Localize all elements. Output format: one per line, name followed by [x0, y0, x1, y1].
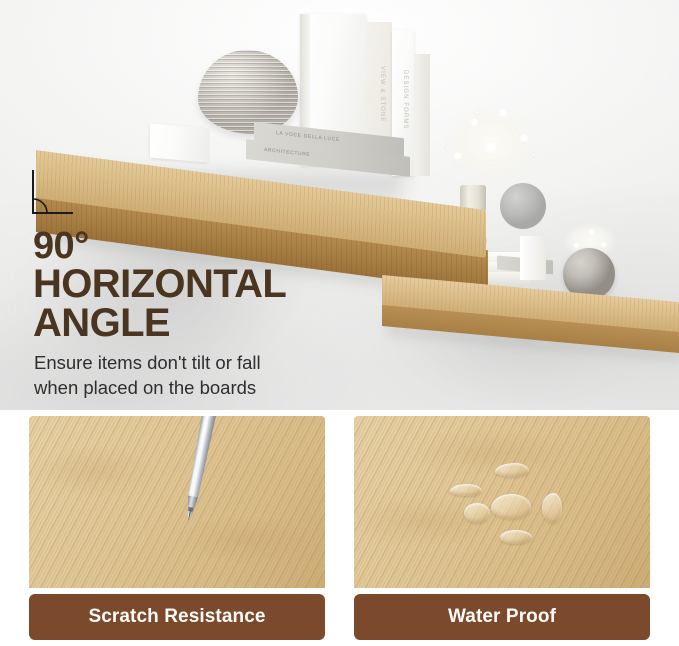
water-proof-tile: [354, 416, 650, 588]
book-label-la-voce-della-luce: LA VOCE DELLA LUCE: [276, 130, 340, 143]
flower-speck: [476, 111, 479, 114]
subcopy-line-2: when placed on the boards: [34, 377, 256, 398]
wood-grain-blotch: [384, 420, 594, 486]
book-spine-label-view-stone: VIEW & STONE: [379, 66, 385, 122]
water-droplet: [464, 503, 490, 523]
water-droplet: [450, 484, 482, 496]
flower-speck: [514, 133, 517, 136]
scratch-resistance-banner: Scratch Resistance: [29, 594, 325, 640]
product-feature-poster: VIEW & STONE DESIGN FORMS LA VOCE DELLA …: [0, 0, 679, 646]
headline-line-1: 90°: [33, 225, 89, 267]
water-droplet: [542, 493, 562, 523]
subcopy-line-1: Ensure items don't tilt or fall: [34, 352, 261, 373]
white-book-upright-lower: [520, 236, 546, 280]
wood-grain-blotch: [29, 436, 179, 506]
headline-subcopy: Ensure items don't tilt or fall when pla…: [34, 351, 364, 400]
headline-line-3: ANGLE: [33, 301, 170, 345]
water-proof-banner: Water Proof: [354, 594, 650, 640]
headline-line-2: HORIZONTAL: [33, 262, 286, 306]
headline-block: 90° HORIZONTAL ANGLE Ensure items don't …: [33, 226, 413, 400]
page-title: 90° HORIZONTAL ANGLE: [33, 226, 413, 342]
flower-speck: [532, 153, 535, 156]
scratch-resistance-label: Scratch Resistance: [88, 606, 265, 628]
water-droplet: [495, 463, 529, 477]
ribbed-ceramic-vase: [198, 50, 298, 134]
water-droplet: [491, 494, 531, 519]
flower-speck: [494, 161, 497, 164]
book-spine-label-design-forms: DESIGN FORMS: [402, 70, 408, 130]
scratch-resistance-tile: [29, 416, 325, 588]
water-proof-feature: Water Proof: [354, 416, 650, 646]
feature-tiles-row: Scratch Resistance Water Proof: [0, 416, 679, 646]
floating-wood-shelf-lower: [382, 275, 679, 353]
water-proof-label: Water Proof: [448, 606, 556, 628]
90-degree-angle-marker: [28, 168, 74, 220]
water-droplet: [500, 530, 532, 544]
scratch-resistance-feature: Scratch Resistance: [29, 416, 325, 646]
